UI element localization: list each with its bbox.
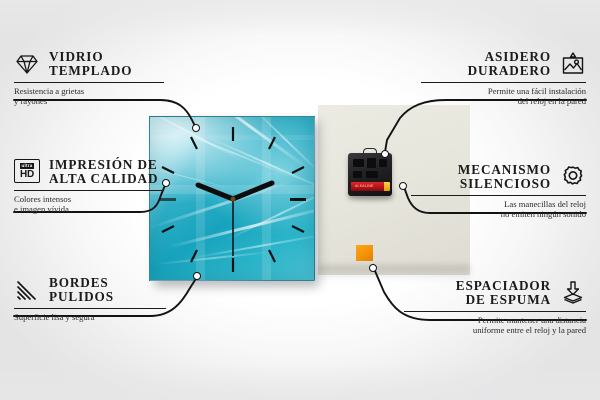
- feature-rule: [404, 311, 586, 312]
- feature-desc-line1: Las manecillas del reloj: [411, 199, 586, 210]
- feature-title-line2: DE ESPUMA: [456, 293, 551, 307]
- feature-desc-line2: y rayones: [14, 96, 164, 107]
- dot-hanger: [381, 150, 389, 158]
- diamond-icon: [14, 51, 40, 77]
- hanging-frame-icon: [560, 51, 586, 77]
- feature-mechanism: MECANISMO SILENCIOSO Las manecillas del …: [411, 163, 586, 220]
- feature-rule: [411, 195, 586, 196]
- feature-title-line1: MECANISMO: [458, 163, 551, 177]
- feature-rule: [14, 308, 166, 309]
- feature-rule: [14, 82, 164, 83]
- feature-foam: ESPACIADOR DE ESPUMA Permite mantener un…: [404, 279, 586, 336]
- feature-desc-line1: Permite una fácil instalación: [421, 86, 586, 97]
- feature-desc-line1: Resistencia a grietas: [14, 86, 164, 97]
- feature-title-line2: PULIDOS: [49, 290, 114, 304]
- feature-desc-line2: del reloj en la pared: [421, 96, 586, 107]
- dot-mechanism: [399, 182, 407, 190]
- feature-title-line2: TEMPLADO: [49, 64, 132, 78]
- feature-title-line2: SILENCIOSO: [458, 177, 551, 191]
- feature-hanger: ASIDERO DURADERO Permite una fácil insta…: [421, 50, 586, 107]
- ultra-hd-icon: ultra HD: [14, 159, 40, 185]
- feature-desc-line2: e imagen vívida: [14, 204, 162, 215]
- feature-desc-line1: Colores intensos: [14, 194, 162, 205]
- polished-edge-icon: [14, 277, 40, 303]
- infographic-canvas: ALKALINE VIDRIO TEMPLADO Resist: [0, 0, 600, 400]
- feature-title-line1: ESPACIADOR: [456, 279, 551, 293]
- feature-desc-line2: uniforme entre el reloj y la pared: [404, 325, 586, 336]
- feature-title-line1: ASIDERO: [468, 50, 551, 64]
- gear-icon: [560, 164, 586, 190]
- foam-spacer-icon: [560, 280, 586, 306]
- feature-title-line1: BORDES: [49, 276, 114, 290]
- dot-edges: [193, 272, 201, 280]
- feature-glass: VIDRIO TEMPLADO Resistencia a grietas y …: [14, 50, 164, 107]
- feature-print: ultra HD IMPRESIÓN DE ALTA CALIDAD Color…: [14, 158, 162, 215]
- feature-rule: [421, 82, 586, 83]
- hd-icon-ultra-label: ultra: [20, 163, 35, 169]
- feature-title-line2: ALTA CALIDAD: [49, 172, 158, 186]
- dot-glass: [192, 124, 200, 132]
- feature-edges: BORDES PULIDOS Superficie lisa y segura: [14, 276, 166, 322]
- dot-foam: [369, 264, 377, 272]
- feature-desc-line2: no emiten ningún sonido: [411, 209, 586, 220]
- feature-title-line2: DURADERO: [468, 64, 551, 78]
- feature-desc-line1: Superficie lisa y segura: [14, 312, 166, 323]
- feature-title-line1: IMPRESIÓN DE: [49, 158, 158, 172]
- hd-icon-hd-label: HD: [20, 170, 34, 180]
- feature-desc-line1: Permite mantener una distancia: [404, 315, 586, 326]
- dot-print: [162, 179, 170, 187]
- wire-hanger: [385, 100, 586, 152]
- feature-rule: [14, 190, 162, 191]
- feature-title-line1: VIDRIO: [49, 50, 132, 64]
